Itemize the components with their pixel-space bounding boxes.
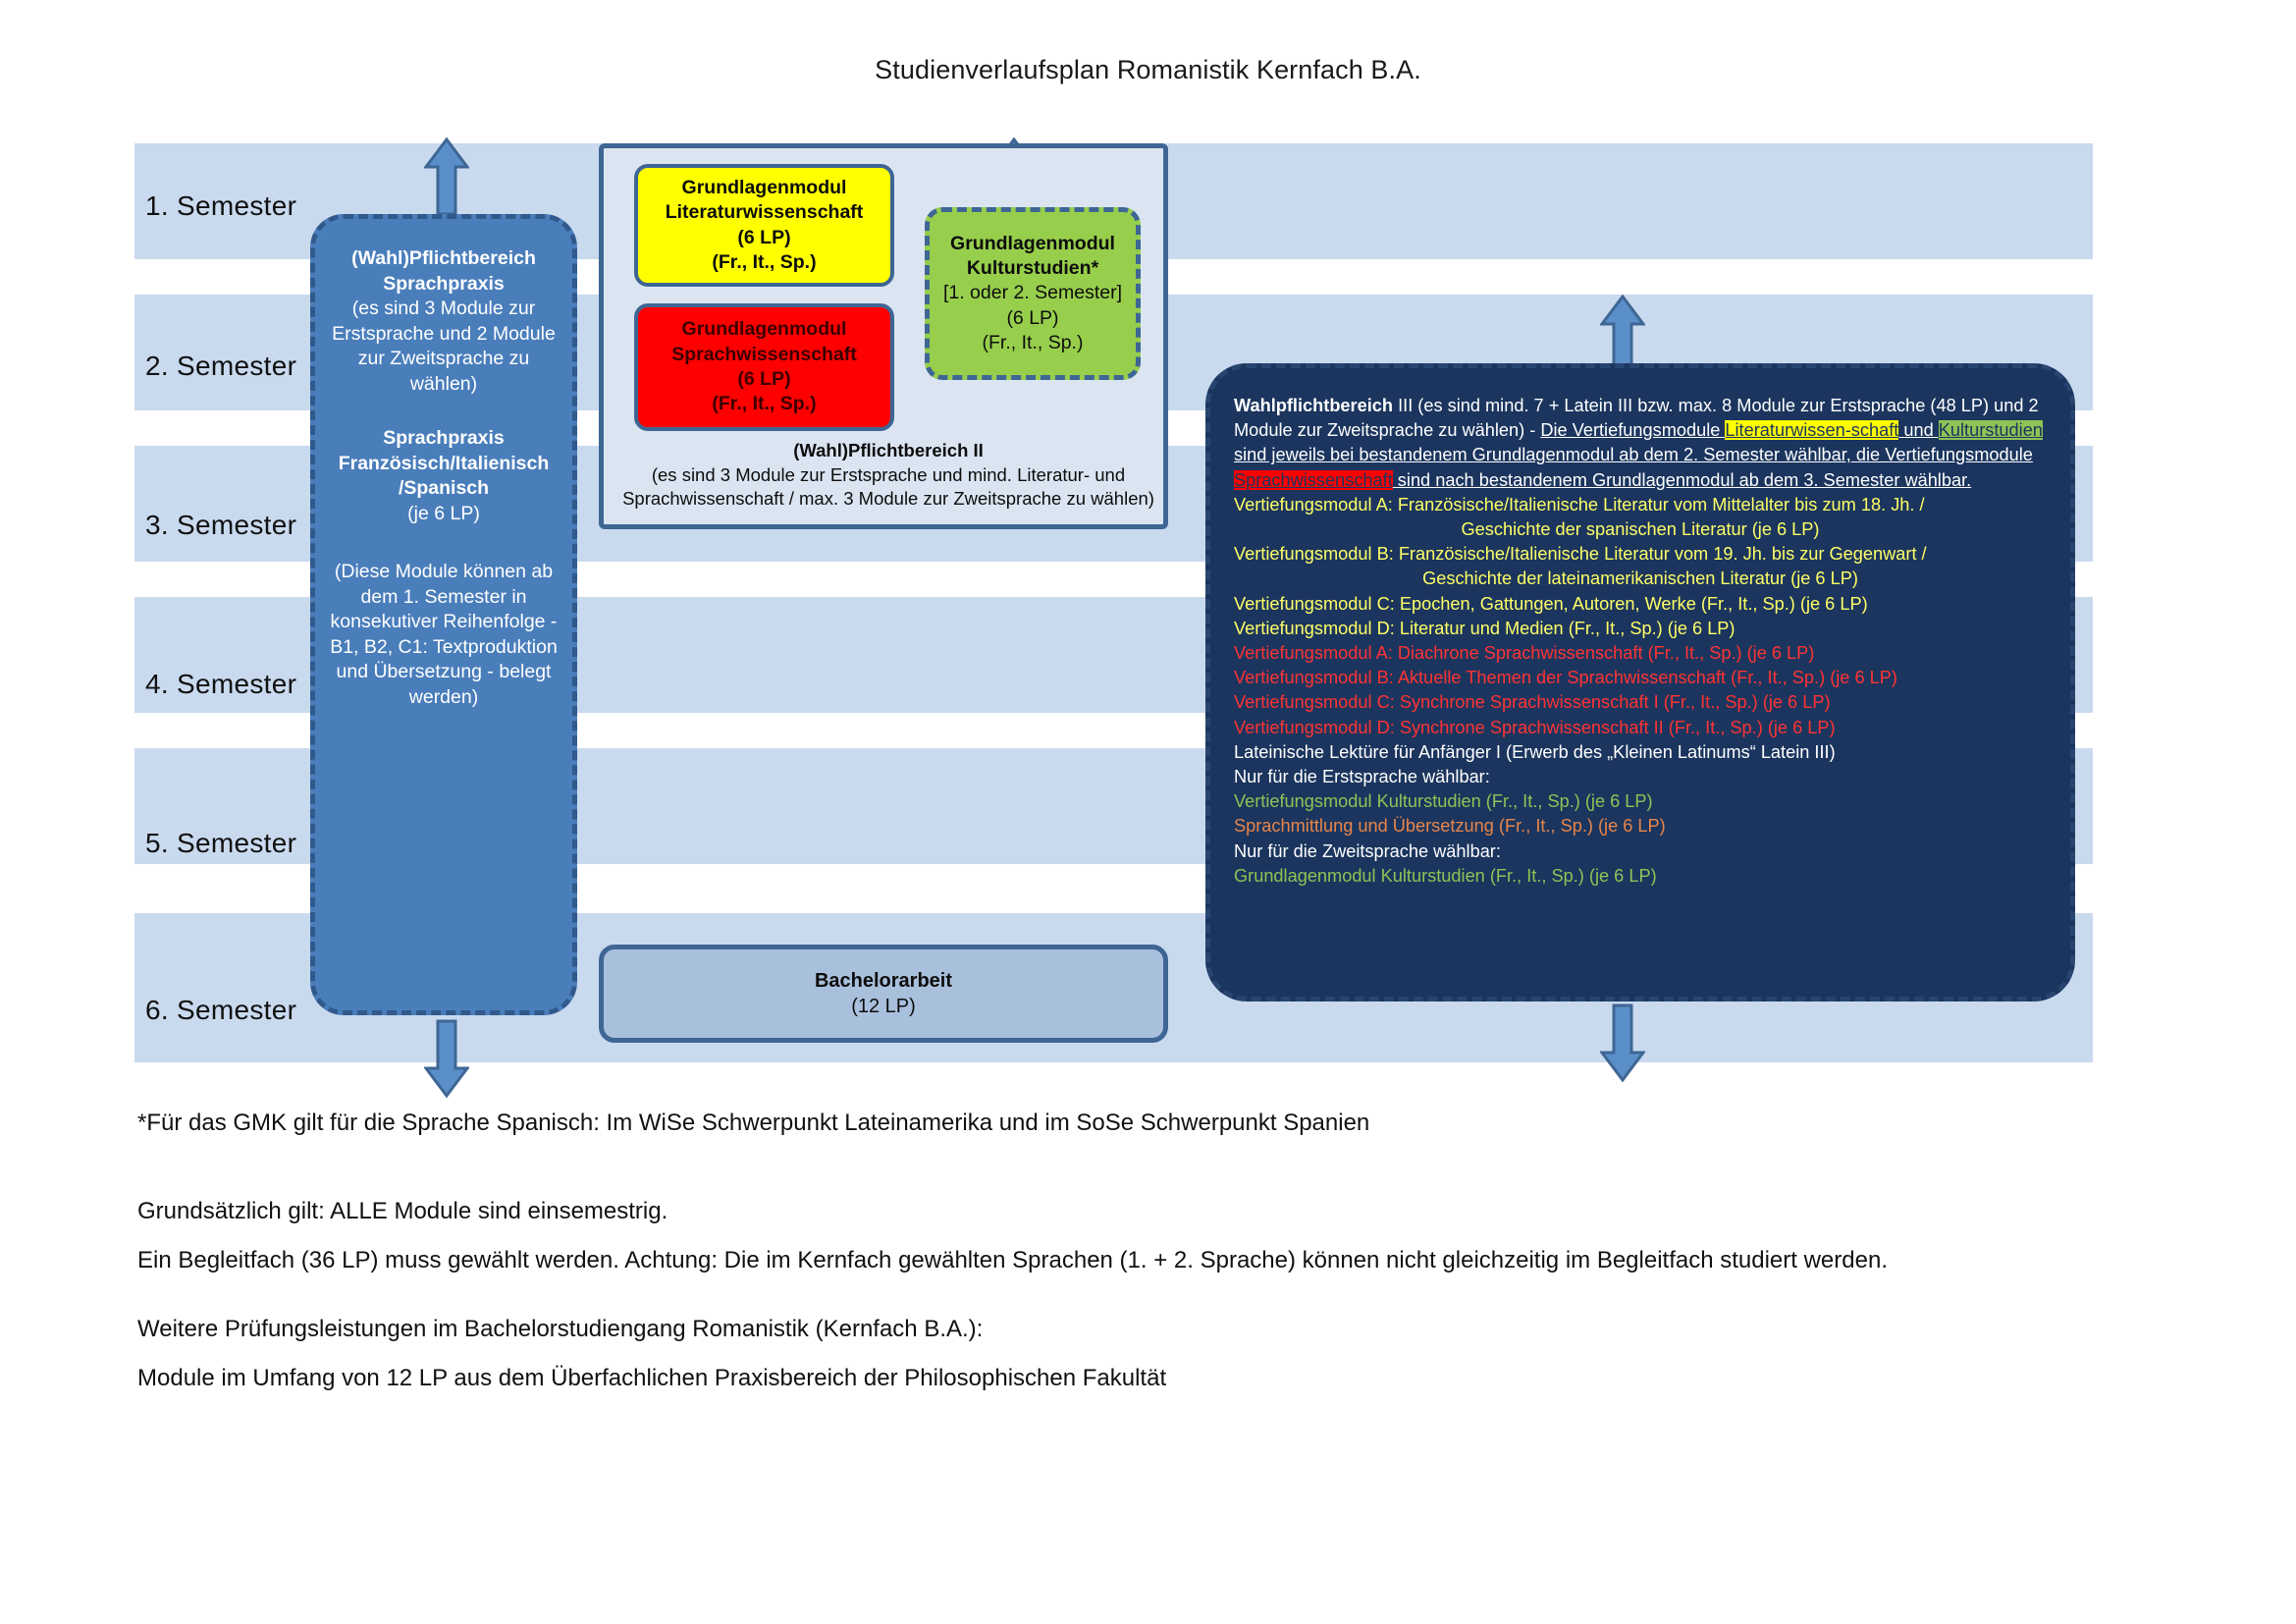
wpb2-caption-line-1: (es sind 3 Module zur Erstsprache und mi… — [615, 463, 1161, 488]
wpb3-latin-line: Lateinische Lektüre für Anfänger I (Erwe… — [1234, 740, 2047, 765]
sprachpraxis-heading-1: (Wahl)Pflichtbereich — [329, 246, 559, 272]
bachelorarbeit-lp: (12 LP) — [851, 994, 916, 1019]
module-lp: (6 LP) — [638, 226, 890, 250]
wpb3-highlight-sprachwissenschaft: Sprachwissenschaft — [1234, 470, 1393, 490]
wpb3-lit-module-b: Vertiefungsmodul B: Französische/Italien… — [1234, 542, 2047, 567]
wpb3-spr-module-a: Vertiefungsmodul A: Diachrone Sprachwiss… — [1234, 641, 2047, 666]
wpb3-intro-u1: Die Vertiefungsmodule — [1540, 420, 1725, 440]
wpb3-intro-bold: Wahlpflichtbereich — [1234, 396, 1393, 415]
wpb3-zweitsprache-header: Nur für die Zweitsprache wählbar: — [1234, 839, 2047, 864]
module-langs: (Fr., It., Sp.) — [638, 392, 890, 416]
module-name: Grundlagenmodul — [638, 176, 890, 200]
module-lp: (6 LP) — [930, 306, 1136, 331]
footnote-weitere-text: Module im Umfang von 12 LP aus dem Überf… — [137, 1363, 2002, 1393]
footnote-grundsaetzlich: Grundsätzlich gilt: ALLE Module sind ein… — [137, 1196, 2002, 1226]
wpb3-spr-module-c: Vertiefungsmodul C: Synchrone Sprachwiss… — [1234, 690, 2047, 715]
sprachpraxis-box[interactable]: (Wahl)Pflichtbereich Sprachpraxis (es si… — [310, 214, 577, 1015]
module-grundlagenmodul-literaturwissenschaft[interactable]: Grundlagenmodul Literaturwissenschaft (6… — [634, 164, 894, 287]
sprachpraxis-note-1: (es sind 3 Module zur Erstsprache und 2 … — [329, 297, 559, 397]
arrow-up-sprachpraxis — [424, 137, 469, 216]
sprachpraxis-heading-5: /Spanisch — [329, 476, 559, 502]
module-subject: Sprachwissenschaft — [638, 343, 890, 367]
sprachpraxis-heading-2: Sprachpraxis — [329, 272, 559, 298]
wpb2-caption-line-2: Sprachwissenschaft / max. 3 Module zur Z… — [615, 487, 1161, 512]
wpb3-erstsprache-item-1: Vertiefungsmodul Kulturstudien (Fr., It.… — [1234, 789, 2047, 814]
sprachpraxis-lp: (je 6 LP) — [329, 502, 559, 527]
wahlpflichtbereich-3-box[interactable]: Wahlpflichtbereich III (es sind mind. 7 … — [1205, 363, 2075, 1001]
wpb3-intro: Wahlpflichtbereich III (es sind mind. 7 … — [1234, 394, 2047, 493]
arrow-down-wahlpflichtbereich3 — [1600, 1003, 1645, 1082]
sprachpraxis-note-2: (Diese Module können ab dem 1. Semester … — [329, 560, 559, 710]
module-langs: (Fr., It., Sp.) — [638, 250, 890, 275]
wahlpflichtbereich-2-container: Grundlagenmodul Literaturwissenschaft (6… — [599, 143, 1168, 529]
wpb3-lit-module-a-cont: Geschichte der spanischen Literatur (je … — [1234, 517, 2047, 542]
module-name: Grundlagenmodul — [638, 317, 890, 342]
sprachpraxis-heading-4: Französisch/Italienisch — [329, 452, 559, 477]
wpb3-highlight-kulturstudien: Kulturstudien — [1939, 420, 2043, 440]
wpb3-lit-module-a: Vertiefungsmodul A: Französische/Italien… — [1234, 493, 2047, 517]
arrow-up-wahlpflichtbereich3 — [1600, 295, 1645, 373]
wpb3-intro-u2: und — [1898, 420, 1938, 440]
wpb3-erstsprache-item-2: Sprachmittlung und Übersetzung (Fr., It.… — [1234, 814, 2047, 839]
page-title: Studienverlaufsplan Romanistik Kernfach … — [0, 55, 2296, 85]
wpb3-erstsprache-header: Nur für die Erstsprache wählbar: — [1234, 765, 2047, 789]
module-subject: Kulturstudien* — [930, 256, 1136, 281]
wpb3-lit-module-c: Vertiefungsmodul C: Epochen, Gattungen, … — [1234, 592, 2047, 617]
wpb3-lit-module-b-cont: Geschichte der lateinamerikanischen Lite… — [1234, 567, 2047, 591]
wpb3-spr-module-d: Vertiefungsmodul D: Synchrone Sprachwiss… — [1234, 716, 2047, 740]
module-langs: (Fr., It., Sp.) — [930, 331, 1136, 355]
footnote-begleitfach: Ein Begleitfach (36 LP) muss gewählt wer… — [137, 1245, 2150, 1275]
sprachpraxis-heading-3: Sprachpraxis — [329, 426, 559, 452]
module-semester-note: [1. oder 2. Semester] — [930, 281, 1136, 305]
bachelorarbeit-box[interactable]: Bachelorarbeit (12 LP) — [599, 945, 1168, 1043]
footnote-gmk: *Für das GMK gilt für die Sprache Spanis… — [137, 1108, 2002, 1138]
module-grundlagenmodul-kulturstudien[interactable]: Grundlagenmodul Kulturstudien* [1. oder … — [925, 207, 1141, 380]
module-grundlagenmodul-sprachwissenschaft[interactable]: Grundlagenmodul Sprachwissenschaft (6 LP… — [634, 303, 894, 431]
arrow-down-sprachpraxis — [424, 1019, 469, 1098]
wpb3-zweitsprache-item-1: Grundlagenmodul Kulturstudien (Fr., It.,… — [1234, 864, 2047, 889]
module-lp: (6 LP) — [638, 367, 890, 392]
bachelorarbeit-label: Bachelorarbeit — [815, 968, 952, 994]
wpb2-caption-title: (Wahl)Pflichtbereich II — [615, 439, 1161, 463]
studienverlaufsplan-diagram: Studienverlaufsplan Romanistik Kernfach … — [0, 0, 2296, 1624]
footnote-weitere-heading: Weitere Prüfungsleistungen im Bachelorst… — [137, 1314, 2002, 1344]
wpb3-intro-u4: sind nach bestandenem Grundlagenmodul ab… — [1393, 470, 1971, 490]
wpb3-highlight-literaturwissenschaft: Literaturwissen-schaft — [1725, 420, 1898, 440]
wpb3-lit-module-d: Vertiefungsmodul D: Literatur und Medien… — [1234, 617, 2047, 641]
module-name: Grundlagenmodul — [930, 232, 1136, 256]
wahlpflichtbereich-2-caption: (Wahl)Pflichtbereich II (es sind 3 Modul… — [615, 439, 1161, 512]
wpb3-intro-u3: sind jeweils bei bestandenem Grundlagenm… — [1234, 445, 2033, 464]
wpb3-spr-module-b: Vertiefungsmodul B: Aktuelle Themen der … — [1234, 666, 2047, 690]
module-subject: Literaturwissenschaft — [638, 200, 890, 225]
